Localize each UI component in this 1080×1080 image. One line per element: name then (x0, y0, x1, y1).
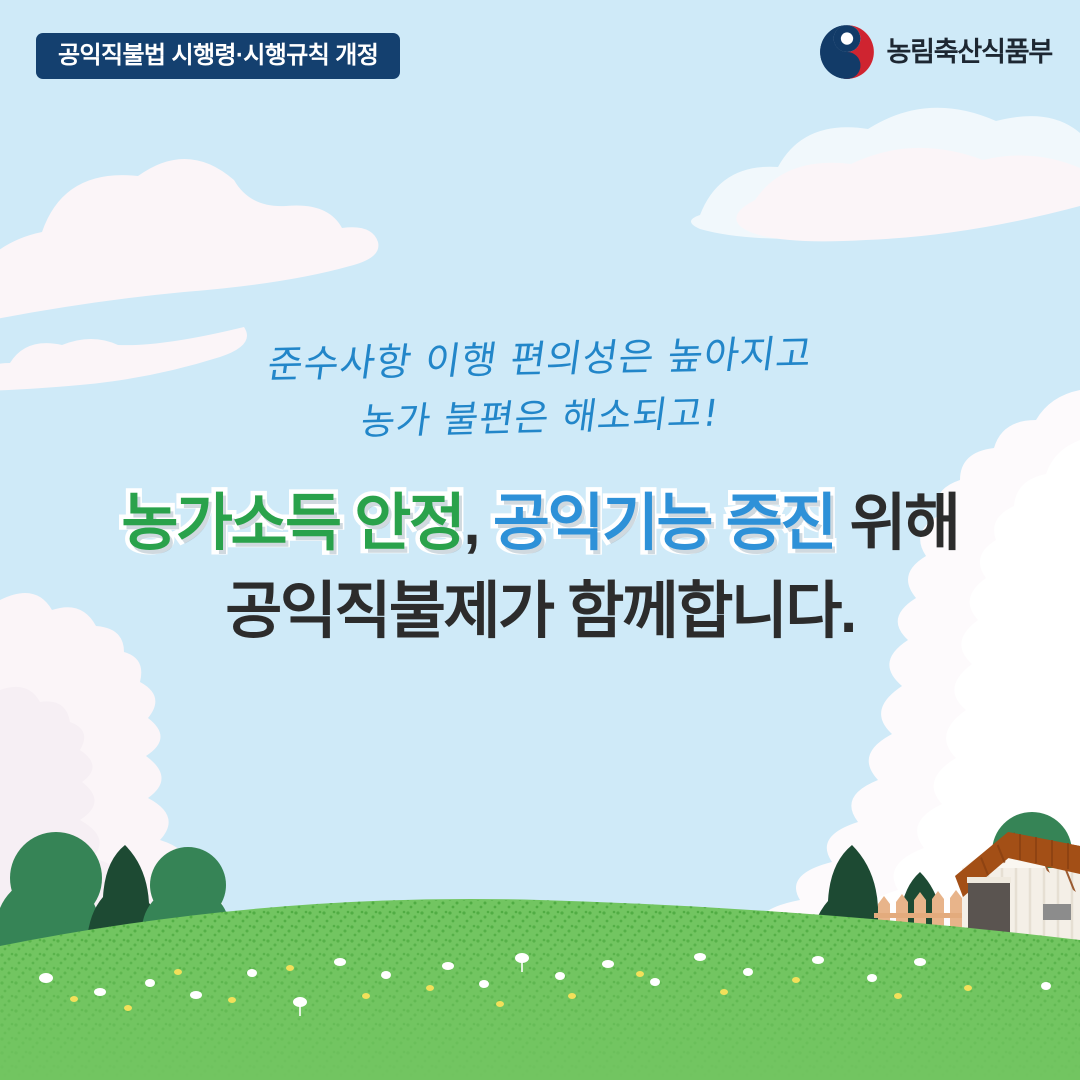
headline-emphasis-green: 농가소득 안정 (121, 489, 463, 558)
ministry-name-label: 농림축산식품부 (887, 39, 1052, 66)
headline-line-1: 농가소득 안정, 공익기능 증진 위해 (0, 480, 1080, 568)
headline-emphasis-blue: 공익기능 증진 (493, 489, 835, 558)
infographic-card: 공익직불법 시행령·시행규칙 개정 농림축산식품부 준수사항 이행 편의성은 높… (0, 0, 1080, 1080)
taegeuk-emblem-icon (819, 24, 875, 80)
grass-hill (0, 899, 1080, 1080)
main-headline: 농가소득 안정, 공익기능 증진 위해 공익직불제가 함께합니다. (0, 480, 1080, 656)
header-badge: 공익직불법 시행령·시행규칙 개정 (36, 33, 400, 79)
headline-line-2: 공익직불제가 함께합니다. (0, 568, 1080, 656)
headline-line-1-tail: 위해 (850, 489, 959, 558)
handwritten-subtitle: 준수사항 이행 편의성은 높아지고 농가 불편은 해소되고! (0, 330, 1080, 446)
header-badge-label: 공익직불법 시행령·시행규칙 개정 (58, 44, 378, 68)
ministry-logo: 농림축산식품부 (819, 24, 1052, 80)
headline-comma: , (463, 489, 478, 558)
